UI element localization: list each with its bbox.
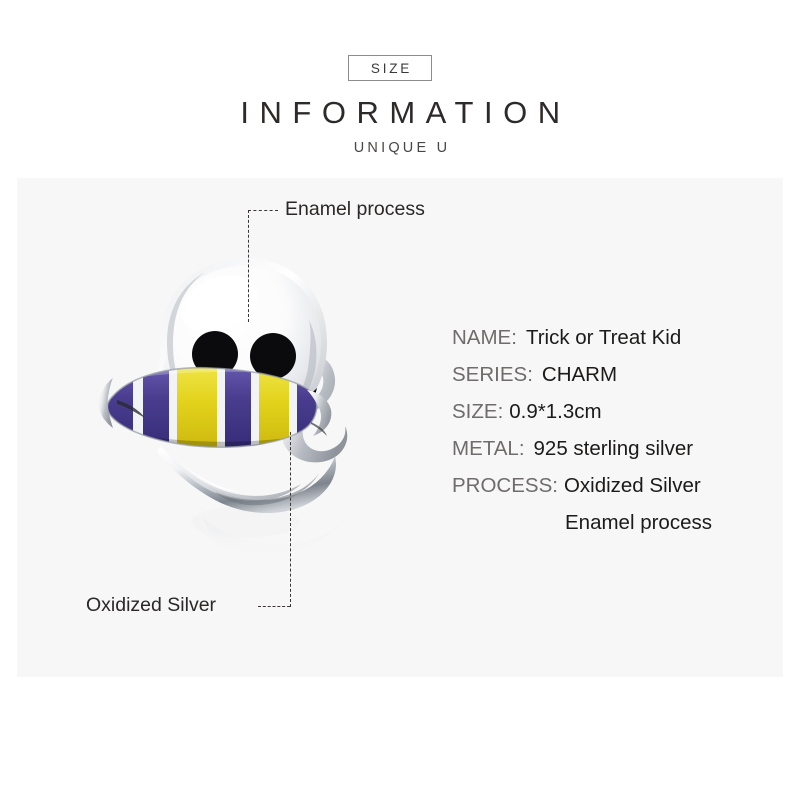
spec-value-size: 0.9*1.3cm <box>509 400 601 424</box>
callout-leader-horizontal-bottom <box>258 606 290 607</box>
spec-value-metal: 925 sterling silver <box>534 437 694 461</box>
spec-row-metal: METAL: 925 sterling silver <box>452 437 762 461</box>
charm-reflection <box>191 506 347 559</box>
spec-row-process: PROCESS: Oxidized Silver <box>452 474 762 498</box>
page-header: SIZE INFORMATION UNIQUE U <box>0 0 800 178</box>
spec-row-name: NAME: Trick or Treat Kid <box>452 326 762 350</box>
callout-leader-vertical-top <box>248 210 249 322</box>
size-badge: SIZE <box>348 55 432 81</box>
spec-label-series: SERIES: <box>452 363 533 387</box>
spec-value-name: Trick or Treat Kid <box>526 326 681 350</box>
callout-leader-horizontal-top <box>248 210 278 211</box>
size-badge-label: SIZE <box>368 61 412 76</box>
callout-label-oxidized-silver: Oxidized Silver <box>86 594 216 617</box>
spec-label-process: PROCESS: <box>452 474 558 498</box>
spec-label-name: NAME: <box>452 326 517 350</box>
product-image <box>95 250 415 580</box>
spec-value-process-line2: Enamel process <box>565 511 762 535</box>
page-title: INFORMATION <box>0 95 800 131</box>
product-spec-list: NAME: Trick or Treat Kid SERIES: CHARM S… <box>452 326 762 535</box>
callout-leader-vertical-bottom <box>290 432 291 607</box>
spec-value-process: Oxidized Silver <box>564 474 701 498</box>
callout-label-enamel-process: Enamel process <box>285 198 425 221</box>
spec-label-metal: METAL: <box>452 437 525 461</box>
spec-row-size: SIZE: 0.9*1.3cm <box>452 400 762 424</box>
spec-label-size: SIZE: <box>452 400 503 424</box>
spec-row-series: SERIES: CHARM <box>452 363 762 387</box>
page-subtitle: UNIQUE U <box>0 140 800 156</box>
spec-value-series: CHARM <box>542 363 617 387</box>
